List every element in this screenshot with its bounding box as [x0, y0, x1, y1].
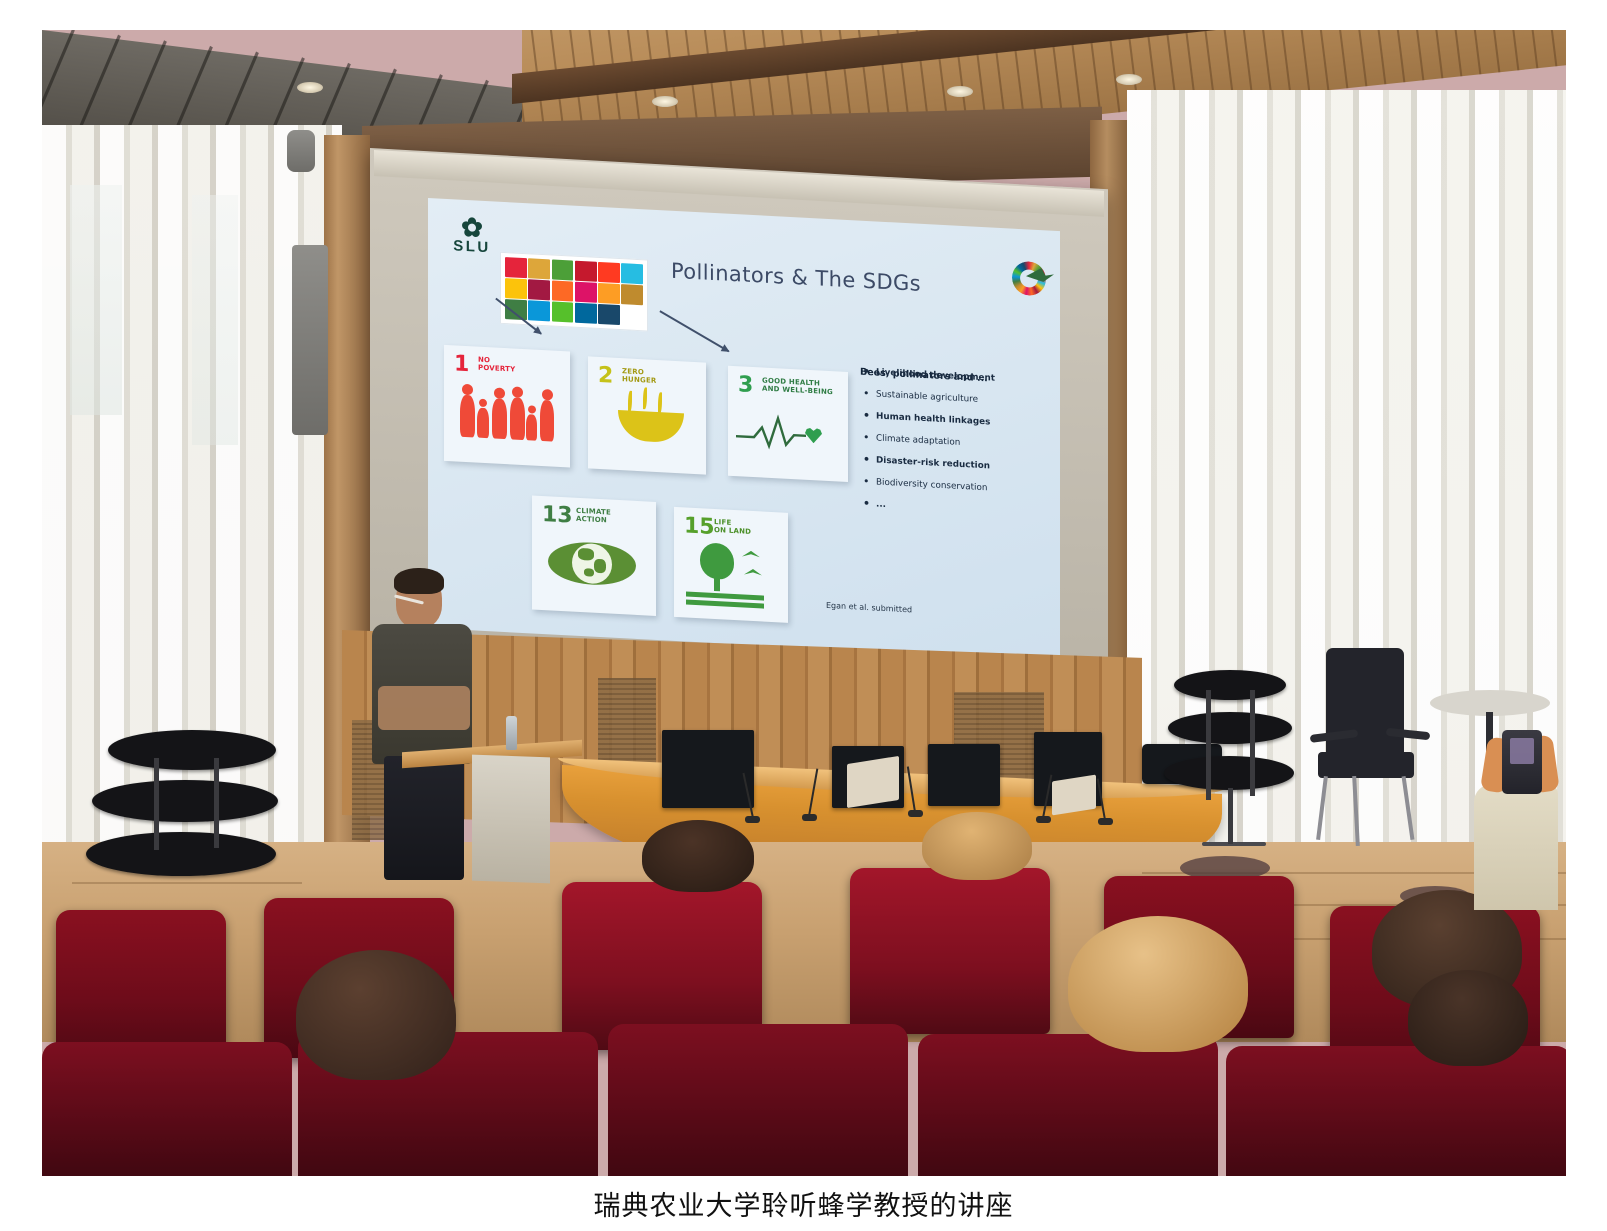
- audience-head: [1068, 916, 1248, 1052]
- sdg-card-label: NO POVERTY: [478, 356, 515, 374]
- microphone-base: [745, 816, 760, 823]
- audience-head: [1408, 970, 1528, 1066]
- sdg-goal-tile-3: [552, 259, 574, 280]
- water-bottle: [506, 716, 517, 750]
- window-pane: [192, 195, 238, 445]
- screenshot-root: ✿ SLU Pollinators & The SDGs 1 NO POVERT…: [0, 0, 1607, 1231]
- arrow-right: [660, 310, 730, 352]
- sdg-goal-tile-16: [575, 303, 597, 324]
- monitor: [662, 730, 754, 808]
- sdg-goal-tile-14: [528, 301, 550, 322]
- bullet-item: ...: [860, 499, 1060, 519]
- sdg-goal-tile-15: [552, 302, 574, 323]
- auditorium-seat: [850, 868, 1050, 1034]
- slide-bullet-block: Bees, pollinators and ... Livelihood dev…: [860, 367, 1060, 531]
- sdg-goal-tile-2: [528, 258, 550, 279]
- bullet-item: Biodiversity conservation: [860, 477, 1060, 497]
- sdg-goal-tile-8: [528, 279, 550, 300]
- sdg-goal-tile-7: [505, 278, 527, 299]
- sdg-goal-tile-11: [598, 283, 620, 304]
- wall-grille: [598, 678, 656, 770]
- presentation-slide: ✿ SLU Pollinators & The SDGs 1 NO POVERT…: [428, 198, 1060, 661]
- bullet-item: Climate adaptation: [860, 433, 1060, 453]
- auditorium-seat-front: [608, 1024, 908, 1176]
- lectern-body: [472, 755, 550, 884]
- bullet-item: Disaster-risk reduction: [860, 455, 1060, 475]
- audience-head: [922, 812, 1032, 880]
- sdg-card-label-line2: ON LAND: [714, 526, 751, 536]
- sdg-goal-tile-1: [505, 257, 527, 278]
- bullet-item: Livelihood development: [860, 367, 1060, 387]
- steaming-bowl-icon: [588, 356, 706, 362]
- heartbeat-icon: [736, 412, 826, 455]
- leaf-logo-icon: ✿: [446, 215, 498, 240]
- sdg-card-label-line2: POVERTY: [478, 364, 515, 374]
- sdg-goal-tile-5: [598, 262, 620, 283]
- downlight-icon: [1116, 74, 1142, 85]
- downlight-icon: [947, 86, 973, 97]
- window-pane: [70, 185, 122, 415]
- bullet-item: Human health linkages: [860, 411, 1060, 431]
- sdg-goal-tile-13: [505, 299, 527, 320]
- sdg-card-1: 1 NO POVERTY: [444, 345, 570, 468]
- sdg-card-2: 2 ZERO HUNGER: [588, 356, 706, 474]
- slide-title: Pollinators & The SDGs: [666, 258, 926, 296]
- downlight-icon: [297, 82, 323, 93]
- audience-photographer: [1450, 730, 1566, 910]
- slide-citation: Egan et al. submitted: [826, 601, 912, 615]
- sdg-card-number: 3: [738, 372, 753, 398]
- corona-chair: [1160, 670, 1300, 850]
- sdg-card-label: GOOD HEALTH AND WELL-BEING: [762, 377, 833, 397]
- sdg-card-number: 15: [684, 513, 715, 540]
- sdg-goal-tile-4: [575, 261, 597, 282]
- bullet-list: Livelihood developmentSustainable agricu…: [860, 367, 1060, 519]
- slu-logo: ✿ SLU: [446, 215, 498, 257]
- eye-earth-icon: [532, 495, 656, 501]
- sdg-goal-tile-6: [621, 263, 643, 284]
- tree-birds-icon: [674, 507, 788, 513]
- sdg-card-label: ZERO HUNGER: [622, 367, 657, 385]
- auditorium-seat-front: [42, 1042, 292, 1176]
- microphone-base: [1098, 818, 1113, 825]
- sdg-card-13: 13 CLIMATE ACTION: [532, 495, 656, 615]
- microphone-base: [802, 814, 817, 821]
- auditorium-seat-front: [1226, 1046, 1566, 1176]
- corona-chair: [84, 730, 294, 890]
- lecture-hall-photo: ✿ SLU Pollinators & The SDGs 1 NO POVERT…: [42, 30, 1566, 1176]
- microphone-base: [1036, 816, 1051, 823]
- sdg-card-number: 1: [454, 351, 469, 377]
- caption-bar: 瑞典农业大学聆听蜂学教授的讲座: [0, 1176, 1607, 1231]
- wall-speaker: [292, 245, 328, 435]
- auditorium-seat-front: [918, 1034, 1218, 1176]
- wall-speaker: [287, 130, 315, 172]
- sdg-goal-tile-17: [598, 304, 620, 325]
- laptop: [1052, 775, 1096, 816]
- sdg-goal-tile-9: [552, 281, 574, 302]
- laptop: [847, 756, 899, 808]
- caption-text: 瑞典农业大学聆听蜂学教授的讲座: [594, 1184, 1014, 1223]
- slu-logo-text: SLU: [446, 237, 498, 257]
- monitor: [928, 744, 1000, 806]
- downlight-icon: [652, 96, 678, 107]
- audience-head: [296, 950, 456, 1080]
- sdg-goal-tile-12: [621, 284, 643, 305]
- microphone-base: [908, 810, 923, 817]
- sdg-card-3: 3 GOOD HEALTH AND WELL-BEING: [728, 366, 848, 482]
- sdg-card-label-line2: HUNGER: [622, 375, 657, 385]
- bullet-item: Sustainable agriculture: [860, 389, 1060, 409]
- family-group-icon: [458, 384, 554, 443]
- sdg-card-number: 13: [542, 502, 573, 529]
- sdg-card-15: 15 LIFE ON LAND: [674, 507, 788, 623]
- sdg-card-label-line2: ACTION: [576, 515, 611, 525]
- sdg-card-label: CLIMATE ACTION: [576, 507, 611, 525]
- sdg-card-number: 2: [598, 363, 613, 389]
- audience-head: [642, 820, 754, 892]
- sdg-goal-tile-10: [575, 282, 597, 303]
- sdg-goal-tile-18: [621, 305, 643, 326]
- sdg-card-label: LIFE ON LAND: [714, 518, 751, 536]
